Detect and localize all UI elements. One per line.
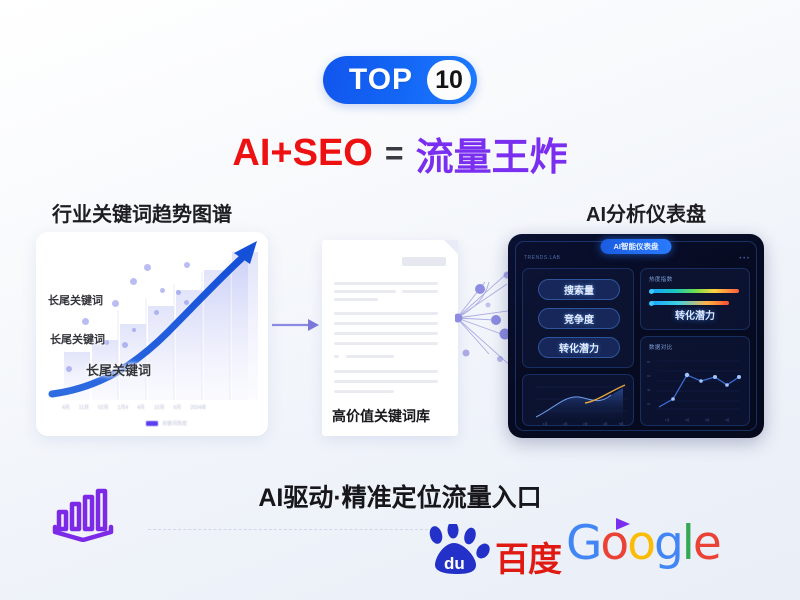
scatter-dot — [82, 318, 89, 325]
top-badge-label: TOP — [349, 63, 427, 97]
baidu-logo[interactable]: du 百度 — [424, 524, 561, 576]
svg-text:4月: 4月 — [725, 418, 730, 422]
scatter-dot — [144, 264, 151, 271]
document-bullet — [334, 355, 339, 358]
bar-chart-pedestal-icon — [50, 486, 116, 542]
top-badge-number: 10 — [427, 60, 471, 100]
document-header-chip — [402, 257, 446, 266]
dashboard-title-badge: AI智能仪表盘 — [601, 239, 672, 254]
trend-chart-inner: 长尾关键词 长尾关键词 长尾关键词 4月 11月 02月 1月4 4月 10月 … — [36, 232, 268, 436]
top-badge[interactable]: TOP 10 — [323, 56, 477, 104]
keyword-label: 长尾关键词 — [86, 360, 151, 379]
legend-label: 关键词热度 — [162, 420, 187, 427]
axis-tick: 11月 — [79, 404, 89, 411]
axis-tick: 1月4 — [118, 404, 129, 411]
svg-text:2月: 2月 — [563, 422, 568, 426]
scatter-dot — [130, 278, 137, 285]
headline-operator: = — [385, 135, 404, 172]
scatter-dot — [154, 310, 159, 315]
right-section-caption: AI分析仪表盘 — [586, 198, 706, 227]
poster-canvas: TOP 10 AI+SEO = 流量王炸 行业关键词趋势图谱 AI分析仪表盘 — [0, 0, 800, 600]
dashboard-brand-label: TRENDS.LAB — [524, 255, 560, 261]
google-letter-e: e — [693, 516, 720, 571]
flow-arrow-2 — [612, 516, 634, 532]
area-chart-panel[interactable]: 1月2月 3月4月 5月 — [522, 374, 634, 426]
document-text-line — [334, 380, 438, 383]
document-text-line — [334, 322, 438, 325]
svg-text:40: 40 — [647, 388, 651, 392]
scatter-dot — [112, 300, 119, 307]
heat-index-panel[interactable]: 热度指数 转化潜力 — [640, 268, 750, 330]
scatter-dot — [176, 290, 181, 295]
area-chart-svg: 1月2月 3月4月 5月 — [523, 375, 635, 427]
scatter-dot — [184, 300, 189, 305]
heat-index-title: 热度指数 — [649, 275, 673, 283]
axis-tick: 6月 — [173, 404, 181, 411]
document-card[interactable]: 高价值关键词库 — [322, 240, 458, 436]
trend-legend: 关键词热度 — [146, 420, 187, 427]
headline-part1: AI+SEO — [232, 132, 372, 175]
document-text-line — [334, 312, 438, 315]
heat-bar-knob[interactable] — [649, 301, 654, 306]
left-section-caption: 行业关键词趋势图谱 — [52, 198, 232, 227]
baidu-paw-text: du — [444, 554, 465, 573]
document-text-line — [334, 290, 396, 293]
top-badge-container: TOP 10 — [0, 56, 800, 104]
axis-tick: 10月 — [154, 404, 165, 411]
axis-tick: 02月 — [98, 404, 109, 411]
svg-text:2月: 2月 — [685, 418, 690, 422]
svg-text:1月: 1月 — [665, 418, 670, 422]
document-text-line — [334, 332, 438, 335]
document-text-line — [346, 355, 394, 358]
document-text-line — [402, 290, 438, 293]
trend-axis-ticks: 4月 11月 02月 1月4 4月 10月 6月 2024年 — [62, 404, 206, 411]
scatter-dot — [66, 366, 72, 372]
metrics-panel: 搜索量 竞争度 转化潜力 — [522, 268, 634, 368]
dotted-connector-line — [148, 529, 438, 530]
ai-dashboard-panel[interactable]: AI智能仪表盘 TRENDS.LAB • • • 搜索量 竞争度 转化潜力 — [508, 234, 764, 438]
metric-button-conversion[interactable]: 转化潜力 — [538, 337, 620, 358]
document-text-line — [334, 342, 438, 345]
google-letter-g1: G — [566, 516, 600, 571]
keyword-label: 长尾关键词 — [48, 292, 103, 308]
trend-chart-card[interactable]: 长尾关键词 长尾关键词 长尾关键词 4月 11月 02月 1月4 4月 10月 … — [36, 232, 268, 436]
document-text-line — [334, 370, 438, 373]
heat-gradient-bar — [651, 289, 739, 293]
headline-part2: 流量王炸 — [416, 126, 568, 181]
line-chart-points — [671, 373, 741, 401]
axis-tick: 4月 — [62, 404, 70, 411]
scatter-dot — [122, 342, 128, 348]
line-chart-svg: 8060 4020 1月2月 3月4月 — [641, 337, 751, 427]
headline: AI+SEO = 流量王炸 — [0, 126, 800, 181]
svg-text:4月: 4月 — [603, 422, 608, 426]
metric-button-search-volume[interactable]: 搜索量 — [538, 279, 620, 300]
google-letter-l: l — [682, 516, 693, 571]
legend-swatch — [146, 421, 158, 426]
scatter-dot — [184, 262, 190, 268]
scatter-dot — [132, 328, 136, 332]
svg-text:1月: 1月 — [543, 422, 548, 426]
document-label: 高价值关键词库 — [332, 406, 430, 426]
heat-bar-knob[interactable] — [649, 289, 654, 294]
svg-text:60: 60 — [647, 374, 651, 378]
page-fold-icon — [444, 240, 458, 254]
svg-text:3月: 3月 — [583, 422, 588, 426]
axis-tick: 4月 — [137, 404, 145, 411]
baidu-paw-icon: du — [424, 524, 490, 576]
scatter-dot — [160, 288, 165, 293]
svg-text:5月: 5月 — [619, 422, 624, 426]
svg-text:80: 80 — [647, 360, 651, 364]
svg-text:3月: 3月 — [705, 418, 710, 422]
baidu-wordmark: 百度 — [495, 544, 561, 576]
document-text-line — [334, 282, 438, 285]
document-text-line — [334, 390, 394, 393]
dashboard-menu-icon[interactable]: • • • — [739, 256, 749, 262]
data-comparison-panel[interactable]: 数据对比 — [640, 336, 750, 426]
google-logo[interactable]: Google — [566, 520, 720, 567]
google-letter-g2: g — [654, 516, 682, 571]
document-text-line — [334, 298, 378, 301]
flow-arrow-1 — [272, 318, 320, 332]
axis-tick: 2024年 — [190, 404, 206, 411]
svg-text:20: 20 — [647, 402, 651, 406]
keyword-label: 长尾关键词 — [50, 331, 105, 347]
footer-slogan: AI驱动·精准定位流量入口 — [0, 478, 800, 514]
heat-gradient-bar — [651, 301, 729, 305]
conversion-potential-overlay: 转化潜力 — [641, 307, 749, 322]
metric-button-competition[interactable]: 竞争度 — [538, 308, 620, 329]
